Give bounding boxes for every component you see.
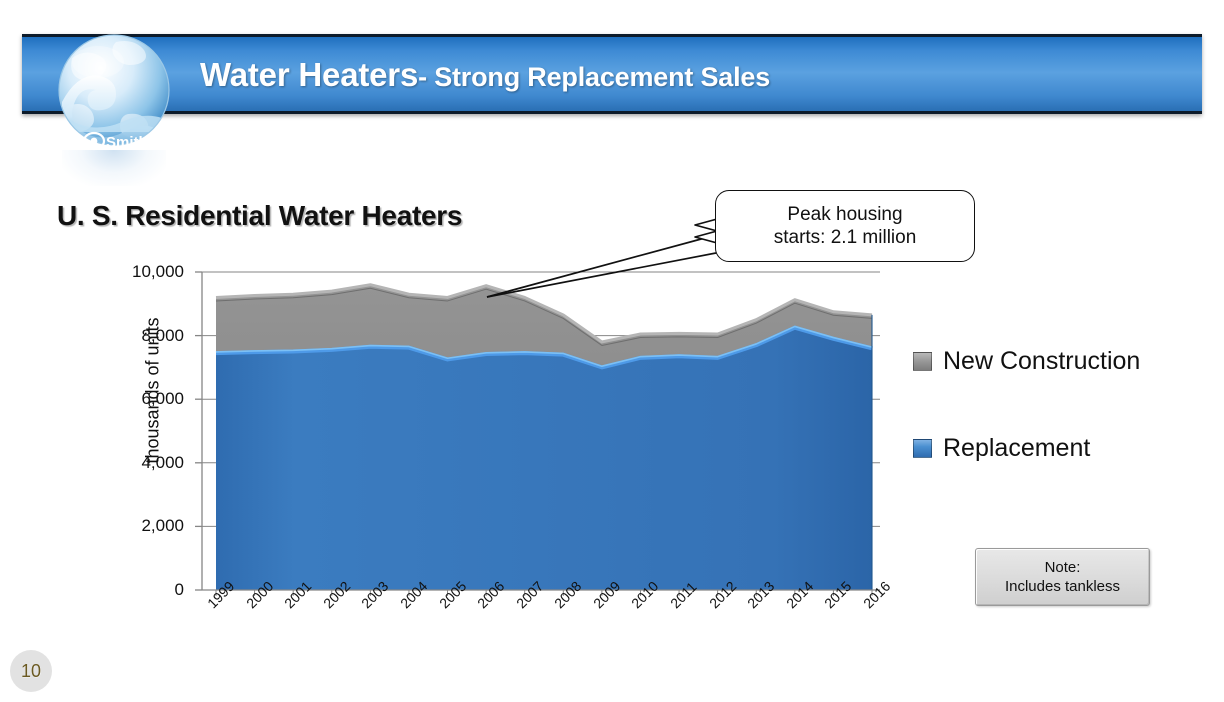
chart-plot xyxy=(120,262,880,632)
legend-item-new-construction[interactable]: New Construction xyxy=(913,345,1140,377)
page-title-sub: - Strong Replacement Sales xyxy=(418,62,770,93)
slide-number: 10 xyxy=(10,650,52,692)
chart-subtitle: U. S. Residential Water Heaters xyxy=(57,200,462,232)
legend-item-replacement[interactable]: Replacement xyxy=(913,432,1140,464)
stacked-area-chart: thousands of units 02,0004,0006,0008,000… xyxy=(120,262,880,632)
note-box: Note: Includes tankless xyxy=(975,548,1150,606)
legend-label: New Construction xyxy=(943,347,1140,376)
ao-smith-globe-logo: Smith. xyxy=(54,28,174,178)
callout-peak-housing: Peak housing starts: 2.1 million xyxy=(715,190,975,262)
page-title-main: Water Heaters xyxy=(200,56,418,94)
legend-label: Replacement xyxy=(943,434,1090,463)
page-title: Water Heaters - Strong Replacement Sales xyxy=(200,56,770,100)
slide: Water Heaters - Strong Replacement Sales xyxy=(0,0,1224,702)
svg-text:Smith.: Smith. xyxy=(106,134,152,151)
callout-tail xyxy=(691,217,717,245)
legend-swatch-icon xyxy=(913,352,932,371)
legend-swatch-icon xyxy=(913,439,932,458)
note-line-2: Includes tankless xyxy=(1005,577,1120,597)
chart-legend: New Construction Replacement xyxy=(913,345,1140,519)
callout-line-1: Peak housing xyxy=(787,203,902,226)
slide-number-value: 10 xyxy=(21,661,41,682)
callout-line-2: starts: 2.1 million xyxy=(774,226,917,249)
note-line-1: Note: xyxy=(1045,558,1081,578)
